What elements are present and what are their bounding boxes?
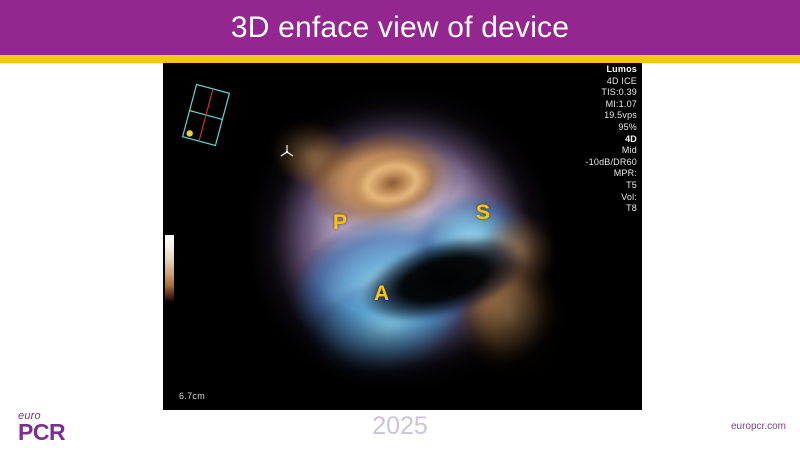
param-vol-heading: Vol:	[585, 192, 637, 204]
param-tis: TIS:0.39	[585, 87, 637, 99]
annotation-label-septal: S	[476, 202, 490, 223]
image-vignette	[163, 63, 642, 410]
page-title: 3D enface view of device	[0, 0, 800, 55]
depth-label: 6.7cm	[179, 391, 205, 401]
colormap-bar	[165, 235, 174, 301]
annotation-label-posterior: P	[333, 212, 347, 233]
footer-url[interactable]: europcr.com	[731, 421, 786, 432]
acquisition-parameters: Lumos 4D ICE TIS:0.39 MI:1.07 19.5vps 95…	[585, 64, 637, 215]
param-percent: 95%	[585, 122, 637, 134]
param-4d-heading: 4D	[585, 134, 637, 146]
orientation-axis-marker-icon	[278, 143, 296, 161]
ultrasound-image-panel: P S A 6.7cm Lumos 4D ICE TIS:0.39 MI:1.0…	[163, 63, 642, 410]
param-gain-dynamic-range: -10dB/DR60	[585, 157, 637, 169]
header-accent-stripe	[0, 55, 800, 63]
param-mi: MI:1.07	[585, 99, 637, 111]
param-focus: Mid	[585, 145, 637, 157]
annotation-label-anterior: A	[374, 283, 389, 304]
param-mode: 4D ICE	[585, 76, 637, 88]
param-volume-rate: 19.5vps	[585, 110, 637, 122]
footer-year: 2025	[0, 412, 800, 441]
volume-rendering	[163, 63, 642, 410]
param-mpr-heading: MPR:	[585, 168, 637, 180]
param-mpr-value: T5	[585, 180, 637, 192]
param-vol-value: T8	[585, 203, 637, 215]
param-system-name: Lumos	[585, 64, 637, 76]
